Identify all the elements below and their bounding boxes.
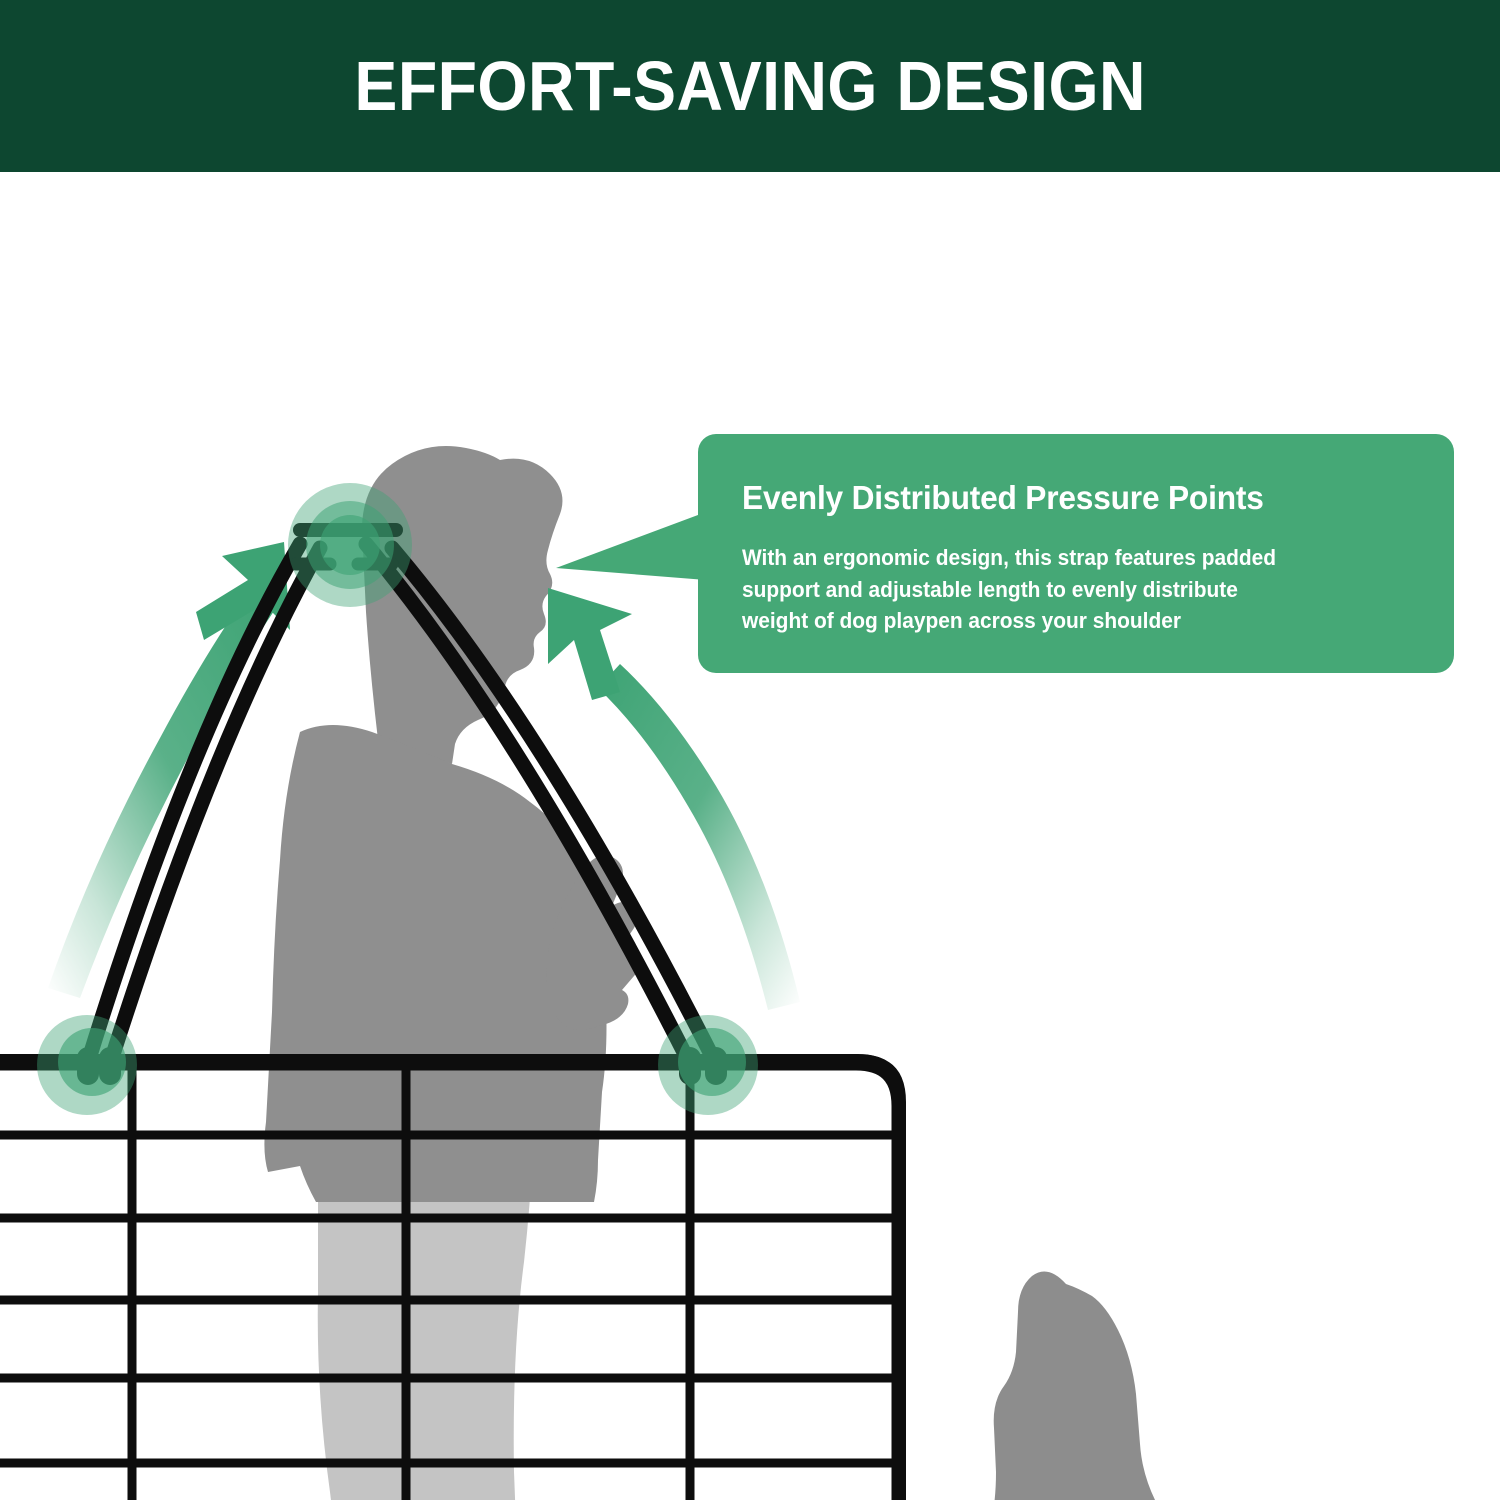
pressure-points-callout: Evenly Distributed Pressure Points With … (698, 434, 1454, 673)
callout-body-line-2: support and adjustable length to evenly … (742, 574, 1377, 605)
left-lift-arrow (48, 542, 290, 998)
illustration-canvas (0, 172, 1500, 1500)
product-infographic: EFFORT-SAVING DESIGN (0, 0, 1500, 1500)
callout-heading: Evenly Distributed Pressure Points (742, 480, 1383, 516)
page-title: EFFORT-SAVING DESIGN (354, 51, 1146, 121)
callout-body-line-3: weight of dog playpen across your should… (742, 605, 1377, 636)
callout-body: With an ergonomic design, this strap fea… (742, 542, 1377, 636)
header-banner: EFFORT-SAVING DESIGN (0, 0, 1500, 172)
shoulder-pressure-point (288, 483, 412, 607)
left-attachment-pressure-point (37, 1015, 137, 1115)
callout-body-line-1: With an ergonomic design, this strap fea… (742, 542, 1377, 573)
dog-silhouette (950, 1272, 1282, 1500)
right-attachment-pressure-point (658, 1015, 758, 1115)
